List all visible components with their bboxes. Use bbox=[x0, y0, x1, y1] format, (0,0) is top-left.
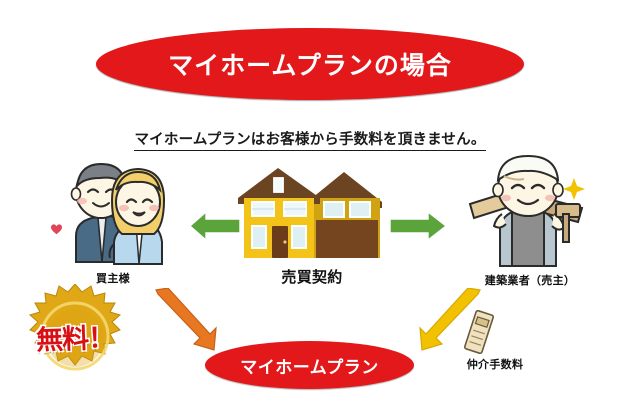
heart-icon bbox=[50, 222, 63, 234]
arrow-builder-to-plan bbox=[414, 288, 484, 352]
plan-ellipse: マイホームプラン bbox=[205, 341, 414, 389]
contract-label: 売買契約 bbox=[232, 266, 392, 287]
free-badge: 無料！ bbox=[14, 284, 136, 388]
free-badge-label: 無料！ bbox=[12, 282, 138, 390]
arrow-house-to-builder bbox=[390, 210, 448, 242]
sparkle-icon bbox=[563, 178, 585, 200]
fee-label: 仲介手数料 bbox=[440, 356, 550, 372]
page-title: マイホームプランの場合 bbox=[96, 28, 524, 100]
plan-label: マイホームプラン bbox=[205, 341, 414, 389]
contract-figure bbox=[232, 168, 392, 260]
arrow-house-to-buyer bbox=[188, 210, 240, 242]
buyer-figure bbox=[48, 158, 178, 268]
builder-label: 建築業者（売主） bbox=[460, 272, 600, 288]
subtitle: マイホームプランはお客様から手数料を頂きません。 bbox=[0, 128, 620, 149]
couple-illustration bbox=[48, 158, 178, 268]
carpenter-illustration bbox=[468, 152, 588, 270]
house-illustration bbox=[232, 168, 392, 260]
diagram-canvas: マイホームプランの場合 マイホームプランはお客様から手数料を頂きません。 bbox=[0, 0, 620, 415]
builder-figure bbox=[468, 152, 588, 270]
subtitle-text: マイホームプランはお客様から手数料を頂きません。 bbox=[134, 132, 485, 151]
title-ellipse: マイホームプランの場合 bbox=[96, 28, 524, 100]
